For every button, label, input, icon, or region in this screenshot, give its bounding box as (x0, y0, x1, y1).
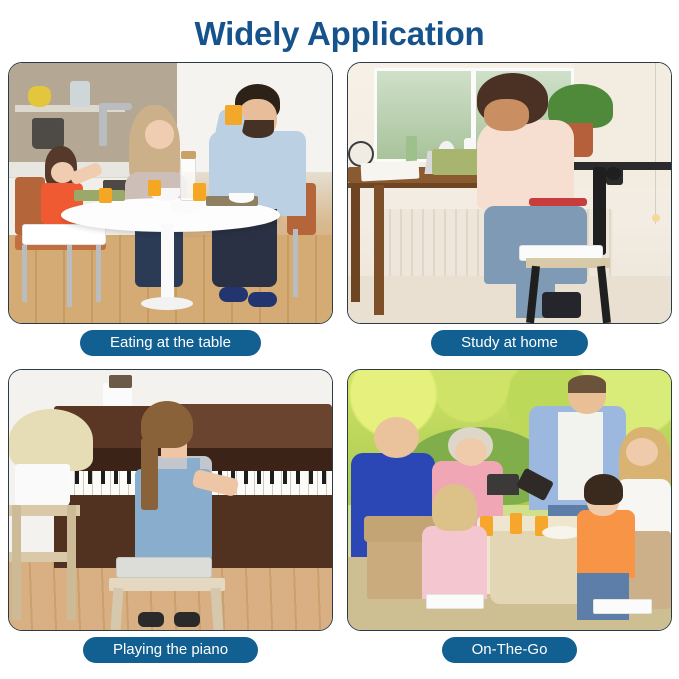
caption-pill-on-the-go[interactable]: On-The-Go (442, 637, 578, 663)
application-cell-playing-the-piano: Playing the piano (8, 369, 333, 672)
application-grid: Eating at the table (8, 62, 672, 672)
photo-card-playing-the-piano[interactable] (8, 369, 333, 631)
application-cell-eating-at-the-table: Eating at the table (8, 62, 333, 365)
caption-pill-playing-the-piano[interactable]: Playing the piano (83, 637, 258, 663)
application-cell-study-at-home: Study at home (347, 62, 672, 365)
caption-wrap-playing-the-piano: Playing the piano (8, 637, 333, 663)
caption-wrap-on-the-go: On-The-Go (347, 637, 672, 663)
scene-on-the-go (348, 370, 671, 630)
caption-pill-eating-at-the-table[interactable]: Eating at the table (80, 330, 261, 356)
photo-card-study-at-home[interactable] (347, 62, 672, 324)
scene-playing-the-piano (9, 370, 332, 630)
scene-eating-at-the-table (9, 63, 332, 323)
caption-wrap-eating-at-the-table: Eating at the table (8, 330, 333, 356)
caption-pill-study-at-home[interactable]: Study at home (431, 330, 588, 356)
booster-cushion (426, 594, 484, 610)
photo-card-eating-at-the-table[interactable] (8, 62, 333, 324)
infographic-page: Widely Application (0, 0, 679, 679)
page-title: Widely Application (0, 14, 679, 54)
booster-cushion (22, 224, 106, 245)
application-cell-on-the-go: On-The-Go (347, 369, 672, 672)
caption-wrap-study-at-home: Study at home (347, 330, 672, 356)
booster-cushion (593, 599, 651, 615)
photo-card-on-the-go[interactable] (347, 369, 672, 631)
seat-cushion (116, 557, 213, 578)
scene-study-at-home (348, 63, 671, 323)
